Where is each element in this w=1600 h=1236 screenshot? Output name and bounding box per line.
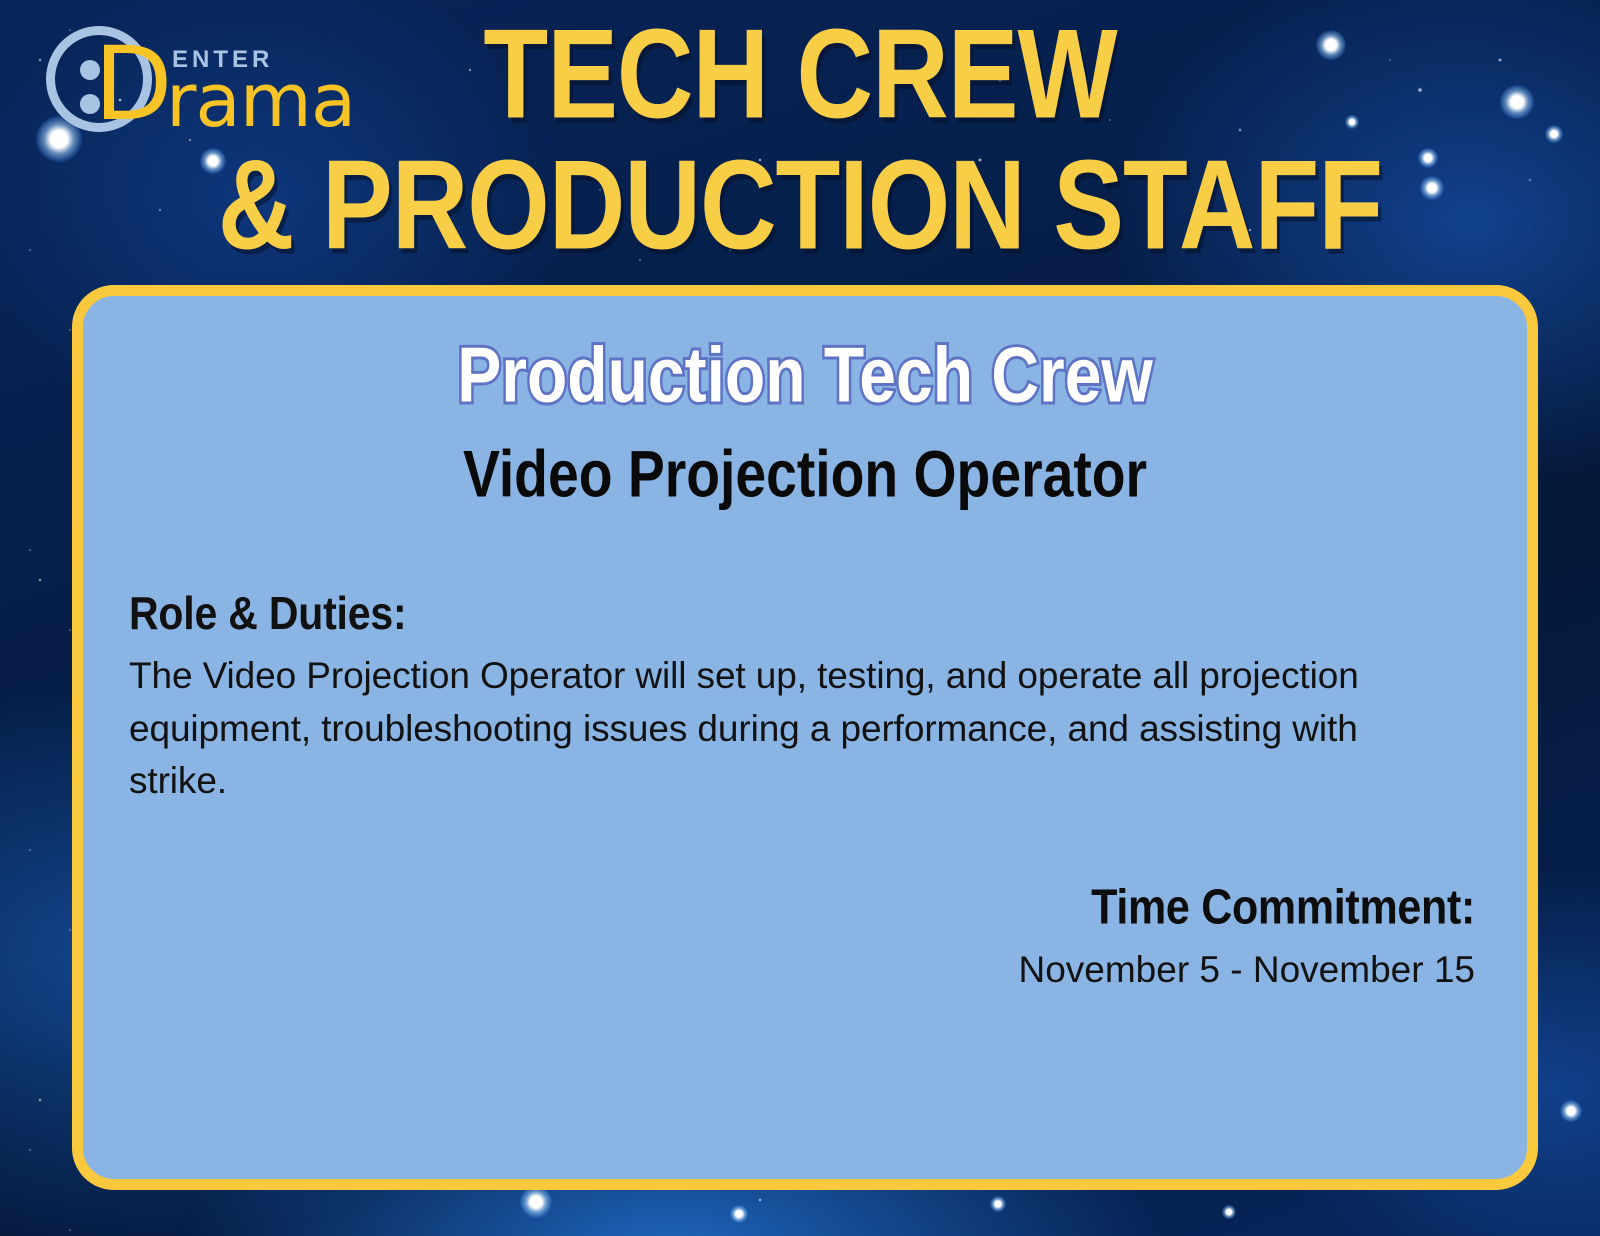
role-duties-body: The Video Projection Operator will set u… [129, 650, 1459, 808]
role-duties-section: Role & Duties: The Video Projection Oper… [129, 587, 1481, 808]
bright-star-icon [730, 1205, 748, 1223]
headline-line-2: & PRODUCTION STAFF [0, 145, 1600, 268]
bright-star-icon [520, 1186, 552, 1218]
time-commitment-section: Time Commitment: November 5 - November 1… [129, 880, 1481, 991]
poster-headline: TECH CREW & PRODUCTION STAFF [0, 14, 1600, 246]
time-commitment-heading: Time Commitment: [1091, 880, 1475, 936]
time-commitment-dates: November 5 - November 15 [129, 949, 1475, 991]
bright-star-icon [1222, 1205, 1236, 1219]
headline-line-1: TECH CREW [0, 14, 1600, 137]
role-name: Video Projection Operator [149, 441, 1460, 510]
bright-star-icon [1560, 1100, 1582, 1122]
role-info-card: Production Tech Crew Video Projection Op… [72, 285, 1538, 1190]
poster-canvas: D ENTER rama TECH CREW & PRODUCTION STAF… [0, 0, 1600, 1236]
role-duties-heading: Role & Duties: [129, 587, 406, 641]
card-title: Production Tech Crew [129, 334, 1481, 416]
bright-star-icon [990, 1196, 1006, 1212]
